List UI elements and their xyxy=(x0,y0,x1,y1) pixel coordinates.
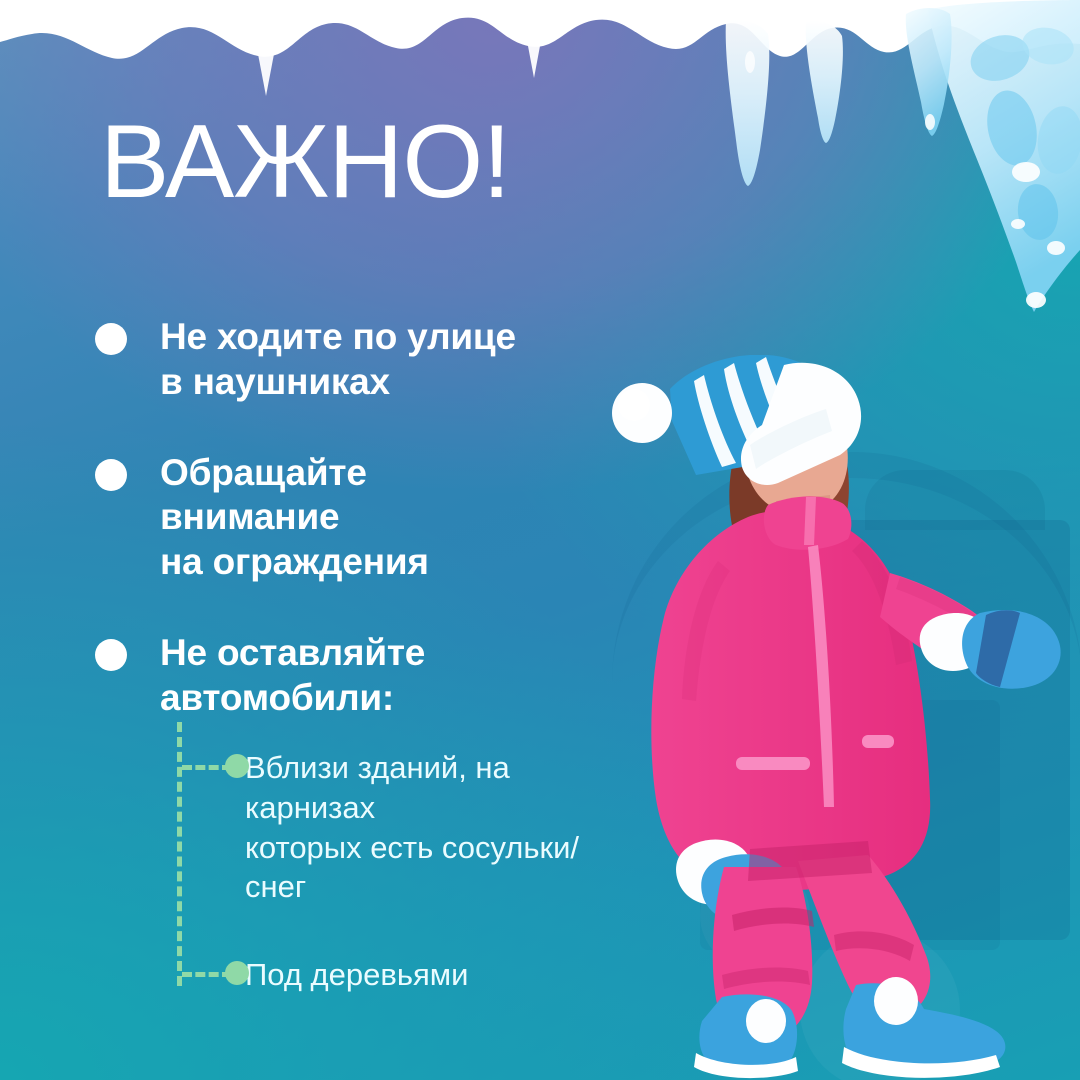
page-title: ВАЖНО! xyxy=(100,110,510,214)
poster-canvas: ВАЖНО! Не ходите по улице в наушниках Об… xyxy=(0,0,1080,1080)
bullet-dot-icon xyxy=(95,459,127,491)
collar-zip xyxy=(804,497,816,545)
bullet-item-headphones: Не ходите по улице в наушниках xyxy=(95,315,640,405)
boot-front-pompom xyxy=(874,977,918,1025)
icicle-highlight-1 xyxy=(745,51,755,73)
bullet-item-fences: Обращайте внимание на ограждения xyxy=(95,451,640,585)
sub-bullet-text: Под деревьями xyxy=(245,955,640,995)
jacket-pocket-left xyxy=(736,757,810,770)
illustration-walking-girl xyxy=(600,355,1080,1080)
sub-bullet-text: Вблизи зданий, на карнизах которых есть … xyxy=(245,748,640,907)
bullet-item-cars: Не оставляйте автомобили: Вблизи зданий,… xyxy=(95,631,640,995)
bullet-text: Не оставляйте автомобили: xyxy=(160,631,640,721)
bullet-dot-icon xyxy=(95,323,127,355)
bullet-text: Не ходите по улице в наушниках xyxy=(160,315,640,405)
text-content: ВАЖНО! Не ходите по улице в наушниках Об… xyxy=(0,0,640,1080)
bullet-text: Обращайте внимание на ограждения xyxy=(160,451,640,585)
ice-shine-1 xyxy=(1012,162,1040,182)
sub-bullet-list: Вблизи зданий, на карнизах которых есть … xyxy=(160,748,640,994)
boot-back-pompom xyxy=(746,999,786,1043)
sub-bullet-near-buildings: Вблизи зданий, на карнизах которых есть … xyxy=(160,748,640,907)
ice-shine-3 xyxy=(1047,241,1065,255)
ice-shine-4 xyxy=(1026,292,1046,308)
icicle-thin-right xyxy=(806,21,843,143)
sub-bullet-under-trees: Под деревьями xyxy=(160,955,640,995)
ice-shine-5 xyxy=(925,114,935,130)
icicle-thin-left xyxy=(726,20,770,186)
bullet-list: Не ходите по улице в наушниках Обращайте… xyxy=(95,315,640,995)
bullet-dot-icon xyxy=(95,639,127,671)
jacket-pocket-right xyxy=(862,735,894,748)
sub-bullet-dot-icon xyxy=(225,961,249,985)
ice-shine-2 xyxy=(1011,219,1025,229)
